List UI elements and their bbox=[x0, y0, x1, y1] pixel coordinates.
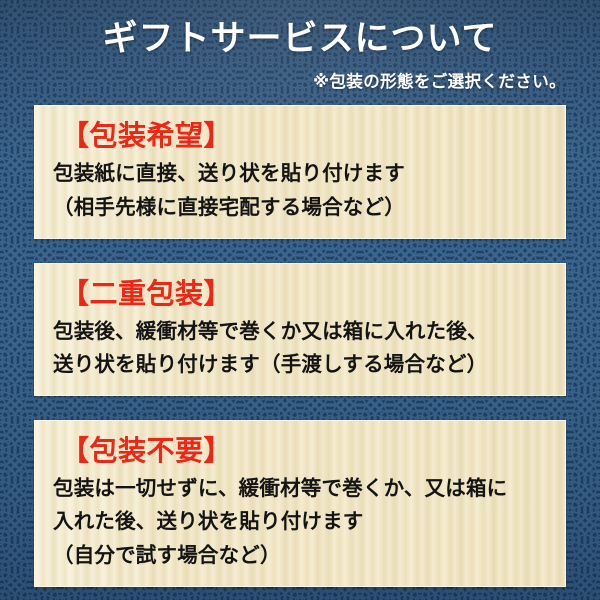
page-title: ギフトサービスについて bbox=[34, 18, 566, 59]
option-card-list: 【包装希望】 包装紙に直接、送り状を貼り付けます （相手先様に直接宅配する場合な… bbox=[0, 105, 600, 586]
card-body-line: （相手先様に直接宅配する場合など） bbox=[53, 191, 547, 224]
card-body-line: 包装紙に直接、送り状を貼り付けます bbox=[53, 157, 547, 190]
card-body-line: （自分で試す場合など） bbox=[53, 539, 547, 572]
card-body: 包装紙に直接、送り状を貼り付けます （相手先様に直接宅配する場合など） bbox=[53, 157, 547, 223]
page-header: ギフトサービスについて ※包装の形態をご選択ください。 bbox=[0, 0, 600, 92]
card-heading: 【包装不要】 bbox=[61, 433, 547, 468]
card-heading: 【包装希望】 bbox=[61, 118, 547, 153]
card-body-line: 包装後、緩衝材等で巻くか又は箱に入れた後、 bbox=[53, 315, 547, 348]
option-card-double-wrapping[interactable]: 【二重包装】 包装後、緩衝材等で巻くか又は箱に入れた後、 送り状を貼り付けます（… bbox=[34, 263, 566, 396]
card-body: 包装後、緩衝材等で巻くか又は箱に入れた後、 送り状を貼り付けます（手渡しする場合… bbox=[53, 315, 547, 381]
card-inner: 【二重包装】 包装後、緩衝材等で巻くか又は箱に入れた後、 送り状を貼り付けます（… bbox=[53, 276, 547, 381]
option-card-no-wrapping[interactable]: 【包装不要】 包装は一切せずに、緩衝材等で巻くか、又は箱に 入れた後、送り状を貼… bbox=[34, 420, 566, 587]
card-body-line: 包装は一切せずに、緩衝材等で巻くか、又は箱に bbox=[53, 472, 547, 505]
option-card-wrapping-requested[interactable]: 【包装希望】 包装紙に直接、送り状を貼り付けます （相手先様に直接宅配する場合な… bbox=[34, 105, 566, 238]
card-body: 包装は一切せずに、緩衝材等で巻くか、又は箱に 入れた後、送り状を貼り付けます （… bbox=[53, 472, 547, 572]
content-wrapper: ギフトサービスについて ※包装の形態をご選択ください。 【包装希望】 包装紙に直… bbox=[0, 0, 600, 600]
card-inner: 【包装希望】 包装紙に直接、送り状を貼り付けます （相手先様に直接宅配する場合な… bbox=[53, 118, 547, 223]
page-subtitle: ※包装の形態をご選択ください。 bbox=[34, 68, 566, 92]
card-heading: 【二重包装】 bbox=[61, 276, 547, 311]
page-root: ギフトサービスについて ※包装の形態をご選択ください。 【包装希望】 包装紙に直… bbox=[0, 0, 600, 600]
card-inner: 【包装不要】 包装は一切せずに、緩衝材等で巻くか、又は箱に 入れた後、送り状を貼… bbox=[53, 433, 547, 572]
card-body-line: 送り状を貼り付けます（手渡しする場合など） bbox=[53, 348, 547, 381]
card-body-line: 入れた後、送り状を貼り付けます bbox=[53, 505, 547, 538]
